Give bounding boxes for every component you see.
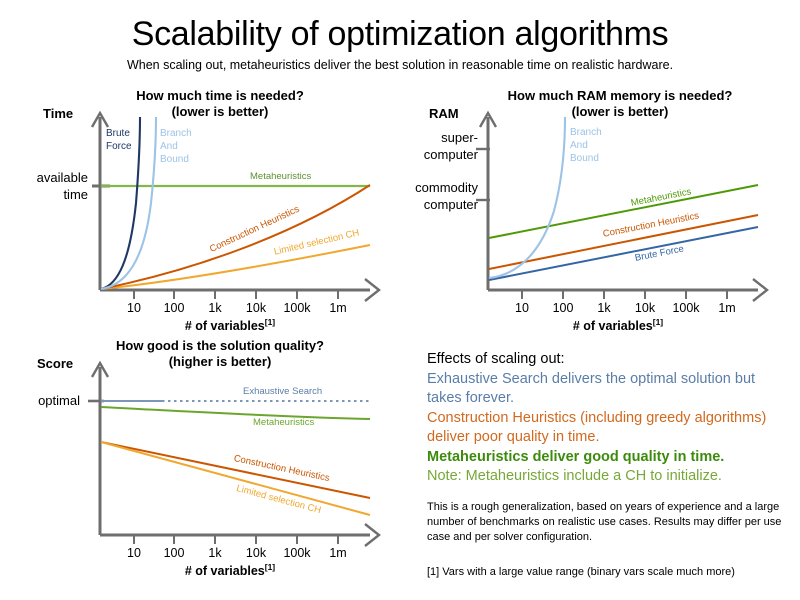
chart-time-label-brute-force: Brute Force [106,127,132,153]
chart-ram-xtick-1k: 1k [584,301,624,315]
chart-ram-label-bab-line1: Branch [570,126,602,139]
chart-score-x-caption-sup: [1] [265,562,275,572]
chart-score-label-metaheuristics: Metaheuristics [253,417,314,428]
chart-ram-xtick-100: 100 [543,301,583,315]
slide-root: Scalability of optimization algorithms W… [0,0,800,600]
chart-score: How good is the solution quality? (highe… [0,335,400,585]
chart-time-label-brute-force-line1: Brute [106,127,132,140]
chart-score-xtick-100: 100 [154,546,194,560]
chart-ram-label-bab-line2: And [570,139,602,152]
chart-time-x-caption-sup: [1] [265,317,275,327]
chart-score-x-caption-text: # of variables [185,564,265,578]
chart-time-label-bab-line2: And [160,140,192,153]
effects-line-metaheuristics: Metaheuristics deliver good quality in t… [427,448,787,468]
chart-time-label-brute-force-line2: Force [106,140,132,153]
chart-time-xtick-100k: 100k [277,301,317,315]
chart-time: How much time is needed? (lower is bette… [0,85,400,330]
page-subtitle: When scaling out, metaheuristics deliver… [0,58,800,72]
chart-time-label-metaheuristics: Metaheuristics [250,171,311,182]
chart-time-xtick-100: 100 [154,301,194,315]
chart-score-xtick-100k: 100k [277,546,317,560]
chart-score-x-axis-caption: # of variables[1] [140,562,320,578]
chart-score-xtick-10: 10 [114,546,154,560]
chart-time-plot [0,85,400,330]
chart-time-xtick-1m: 1m [318,301,358,315]
chart-time-xtick-10: 10 [114,301,154,315]
effects-line-construction-heuristics: Construction Heuristics (including greed… [427,409,787,448]
chart-ram-plot [400,85,800,330]
effects-line-exhaustive-search: Exhaustive Search delivers the optimal s… [427,370,787,409]
chart-time-label-bab-line1: Branch [160,127,192,140]
disclaimer-text: This is a rough generalization, based on… [427,500,787,545]
chart-time-xtick-1k: 1k [195,301,235,315]
chart-ram-xtick-10k: 10k [625,301,665,315]
chart-time-label-branch-and-bound: Branch And Bound [160,127,192,166]
footnote-text: [1] Vars with a large value range (binar… [427,565,797,580]
chart-ram-x-axis-caption: # of variables[1] [528,317,708,333]
chart-score-xtick-1m: 1m [318,546,358,560]
chart-ram-xtick-10: 10 [502,301,542,315]
chart-ram: How much RAM memory is needed? (lower is… [400,85,800,330]
chart-score-label-exhaustive-search: Exhaustive Search [243,386,322,397]
chart-time-label-bab-line3: Bound [160,153,192,166]
chart-ram-xtick-100k: 100k [666,301,706,315]
chart-ram-label-branch-and-bound: Branch And Bound [570,126,602,165]
chart-ram-label-bab-line3: Bound [570,152,602,165]
chart-time-xtick-10k: 10k [236,301,276,315]
effects-block: Effects of scaling out: Exhaustive Searc… [427,350,787,487]
chart-time-x-caption-text: # of variables [185,319,265,333]
chart-time-x-axis-caption: # of variables[1] [140,317,320,333]
chart-ram-x-caption-text: # of variables [573,319,653,333]
chart-score-xtick-1k: 1k [195,546,235,560]
page-title: Scalability of optimization algorithms [0,14,800,54]
chart-ram-x-caption-sup: [1] [653,317,663,327]
effects-line-note: Note: Metaheuristics include a CH to ini… [427,467,787,487]
chart-score-xtick-10k: 10k [236,546,276,560]
effects-heading: Effects of scaling out: [427,350,787,370]
chart-ram-xtick-1m: 1m [707,301,747,315]
